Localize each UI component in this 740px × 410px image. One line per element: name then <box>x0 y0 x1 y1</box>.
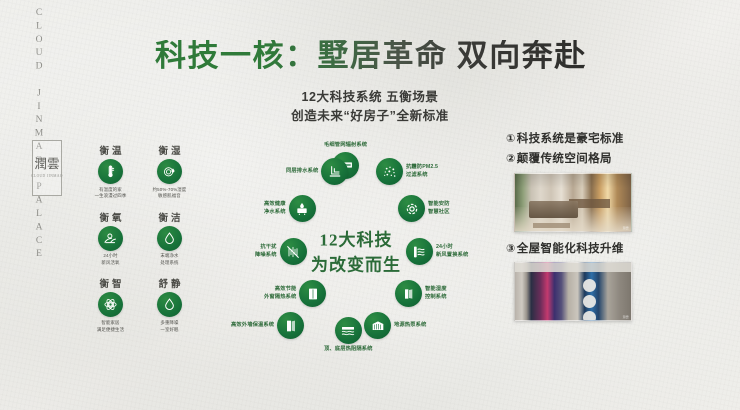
heng-title: 舒静 <box>143 276 196 290</box>
heng-title: 衡氧 <box>84 210 137 224</box>
highlight-heading: ①科技系统是豪宅标准 <box>506 131 728 148</box>
wheel-node-label: 智能安防 智慧社区 <box>428 201 450 216</box>
heng-item-jing: 舒静 多重降噪 一室好眠 <box>143 276 196 333</box>
heng-desc-line-1: 智能家居 <box>84 320 137 327</box>
highlight-number: ② <box>506 153 516 165</box>
highlight-text: 全屋智能化科技升维 <box>517 243 624 255</box>
wheel-node-window[interactable]: 高效节能 外窗隔热系统 <box>264 280 326 307</box>
shield-ring-icon <box>398 195 425 222</box>
subtitle-line-1: 12大科技系统 五衡场景 <box>205 88 535 107</box>
highlight-number: ① <box>506 133 516 145</box>
wheel-node-label: 24小时 新风置换系统 <box>436 244 468 259</box>
heng-item-zhi: 衡智 智能家居 满足便捷生活 <box>84 276 137 333</box>
heng-desc-line-2: 新风活氧 <box>84 260 137 267</box>
wheel-node-label: 毛细管网辐射系统 <box>324 142 367 150</box>
wheel-node-pm25[interactable]: 抗霾防PM2.5 过滤系统 <box>376 158 438 185</box>
heng-description: 末端净水 处理系统 <box>143 253 196 266</box>
highlight-item-1: ①科技系统是豪宅标准 <box>506 131 728 148</box>
wheel-node-geothermal[interactable]: 地源热泵系统 <box>364 312 426 339</box>
heng-desc-line-2: 满足便捷生活 <box>84 327 137 334</box>
heng-item-jie: 衡洁 末端净水 处理系统 <box>143 210 196 267</box>
wheel-center-label: 12大科技 为改变而生 <box>311 228 401 277</box>
wheel-center-line-1: 12大科技 <box>311 228 401 253</box>
heng-description: 多重降噪 一室好眠 <box>143 320 196 333</box>
wheel-node-label: 顶、底层热阻隔系统 <box>324 346 373 354</box>
humidity-control-icon <box>395 280 422 307</box>
heng-title: 衡洁 <box>143 210 196 224</box>
wheel-node-label: 地源热泵系统 <box>394 322 426 330</box>
wheel-node-noise-reduction[interactable]: 抗干扰 降噪系统 <box>255 238 307 265</box>
brand-vertical-text: CLOUD JINMAO PALACE <box>34 8 44 263</box>
highlight-item-3: ③全屋智能化科技升维 潤雲 <box>506 241 728 321</box>
wheel-node-fresh-air[interactable]: 24小时 新风置换系统 <box>406 238 468 265</box>
heng-title: 衡温 <box>84 143 137 157</box>
highlight-heading: ③全屋智能化科技升维 <box>506 241 728 258</box>
wheel-center-line-2: 为改变而生 <box>311 253 401 278</box>
brand-logo-chinese: 潤雲 <box>34 158 59 171</box>
water-purifier-icon <box>289 195 316 222</box>
heng-desc-line-2: 一生浪漫过四季 <box>84 193 137 200</box>
subtitle-line-2: 创造未来“好房子”全新标准 <box>205 107 535 126</box>
heng-description: 约50%-70%湿度 敏感肌福音 <box>143 187 196 200</box>
humidity-icon <box>157 159 182 184</box>
smart-home-photo: 潤雲 <box>514 262 632 321</box>
highlight-number: ③ <box>506 243 516 255</box>
wheel-node-label: 高效健康 净水系统 <box>264 201 286 216</box>
heng-title: 衡湿 <box>143 143 196 157</box>
heng-desc-line-1: 末端净水 <box>143 253 196 260</box>
wheel-node-label: 高效节能 外窗隔热系统 <box>264 286 296 301</box>
heng-desc-line-2: 一室好眠 <box>143 327 196 334</box>
thermometer-icon <box>98 159 123 184</box>
wheel-node-label: 智能湿度 控制系统 <box>425 286 447 301</box>
wheel-node-label: 抗霾防PM2.5 过滤系统 <box>406 164 438 179</box>
heng-item-yang: 衡氧 24小时 新风活氧 <box>84 210 137 267</box>
heng-description: 智能家居 满足便捷生活 <box>84 320 137 333</box>
heng-scenarios-grid: 衡温 有温度的家 一生浪漫过四季 衡湿 约50%-70%湿度 敏感肌福音 衡氧 <box>84 143 196 333</box>
interior-photo: 潤雲 <box>514 173 632 232</box>
heng-desc-line-2: 敏感肌福音 <box>143 193 196 200</box>
wheel-node-label: 同层排水系统 <box>286 168 318 176</box>
page-title: 科技一核：墅居革命 双向奔赴 <box>155 40 585 71</box>
heng-desc-line-1: 多重降噪 <box>143 320 196 327</box>
wheel-node-label: 抗干扰 降噪系统 <box>255 244 277 259</box>
brand-rail: CLOUD JINMAO PALACE 潤雲 CLOUD JINMAO <box>24 8 70 208</box>
wheel-node-label: 高效外墙保温系统 <box>231 322 274 330</box>
highlight-text: 科技系统是豪宅标准 <box>517 133 624 145</box>
drainage-icon <box>321 158 348 185</box>
wheel-node-water-purifier[interactable]: 高效健康 净水系统 <box>264 195 316 222</box>
tech-systems-wheel: 12大科技 为改变而生 毛细管网辐射系统 抗霾防PM2.5 过滤系统 <box>228 140 484 366</box>
airflow-icon <box>406 238 433 265</box>
heng-item-shi: 衡湿 约50%-70%湿度 敏感肌福音 <box>143 143 196 200</box>
highlight-text: 颠覆传统空间格局 <box>517 153 612 165</box>
heng-desc-line-2: 处理系统 <box>143 260 196 267</box>
photo-watermark: 潤雲 <box>623 315 629 319</box>
smart-atom-icon <box>98 292 123 317</box>
highlights-panel: ①科技系统是豪宅标准 ②颠覆传统空间格局 潤雲 ③全屋智能化科技升维 潤雲 <box>506 131 728 330</box>
page-subtitle: 12大科技系统 五衡场景 创造未来“好房子”全新标准 <box>205 88 535 127</box>
highlight-item-2: ②颠覆传统空间格局 潤雲 <box>506 151 728 231</box>
quiet-drop-icon <box>157 292 182 317</box>
brand-logo-subtitle: CLOUD JINMAO <box>31 174 63 178</box>
water-drop-icon <box>157 226 182 251</box>
wheel-node-wall-insulation[interactable]: 高效外墙保温系统 <box>231 312 304 339</box>
thermal-barrier-icon <box>335 317 362 344</box>
highlight-heading: ②颠覆传统空间格局 <box>506 151 728 168</box>
wall-insulation-icon <box>277 312 304 339</box>
wheel-node-security[interactable]: 智能安防 智慧社区 <box>398 195 450 222</box>
heng-desc-line-1: 24小时 <box>84 253 137 260</box>
noise-reduction-icon <box>280 238 307 265</box>
photo-watermark: 潤雲 <box>623 226 629 230</box>
window-icon <box>299 280 326 307</box>
heng-item-wen: 衡温 有温度的家 一生浪漫过四季 <box>84 143 137 200</box>
heng-description: 24小时 新风活氧 <box>84 253 137 266</box>
heng-description: 有温度的家 一生浪漫过四季 <box>84 187 137 200</box>
filter-particles-icon <box>376 158 403 185</box>
oxygen-leaf-icon <box>98 226 123 251</box>
heng-title: 衡智 <box>84 276 137 290</box>
wheel-node-humidity-control[interactable]: 智能湿度 控制系统 <box>395 280 447 307</box>
wheel-node-thermal-barrier[interactable]: 顶、底层热阻隔系统 <box>324 317 373 354</box>
wheel-node-drainage[interactable]: 同层排水系统 <box>286 158 348 185</box>
brand-logo: 潤雲 CLOUD JINMAO <box>32 140 62 196</box>
